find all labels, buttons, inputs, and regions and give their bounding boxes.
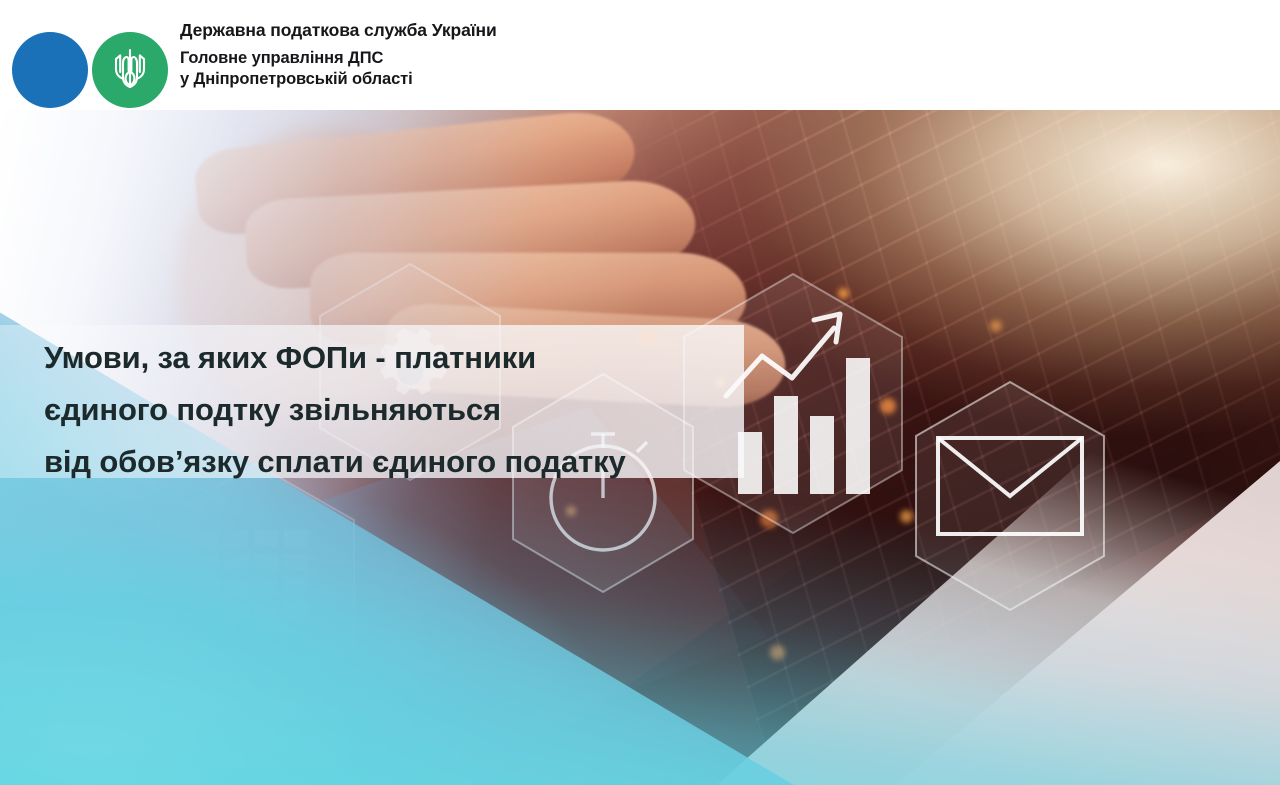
site-header: Державна податкова служба України Головн… [0, 0, 1280, 110]
hero-banner: Умови, за яких ФОПи - платники єдиного п… [0, 110, 1280, 785]
organization-title: Державна податкова служба України [180, 20, 497, 41]
banner-page: Державна податкова служба України Головн… [0, 0, 1280, 785]
hero-title-line-3: від обов’язку сплати єдиного податку [44, 436, 764, 488]
hero-title-line-1: Умови, за яких ФОПи - платники [44, 332, 764, 384]
hero-title-line-2: єдиного подтку звільняються [44, 384, 764, 436]
organization-subtitle-line1: Головне управління ДПС [180, 48, 497, 69]
header-text-block: Державна податкова служба України Головн… [180, 20, 497, 90]
ukraine-trident-emblem [110, 45, 150, 95]
green-circle-logo [92, 32, 168, 108]
organization-subtitle-line2: у Дніпропетровській області [180, 69, 497, 90]
logo-block [8, 16, 178, 94]
hero-title: Умови, за яких ФОПи - платники єдиного п… [44, 332, 764, 488]
blue-circle-logo [12, 32, 88, 108]
